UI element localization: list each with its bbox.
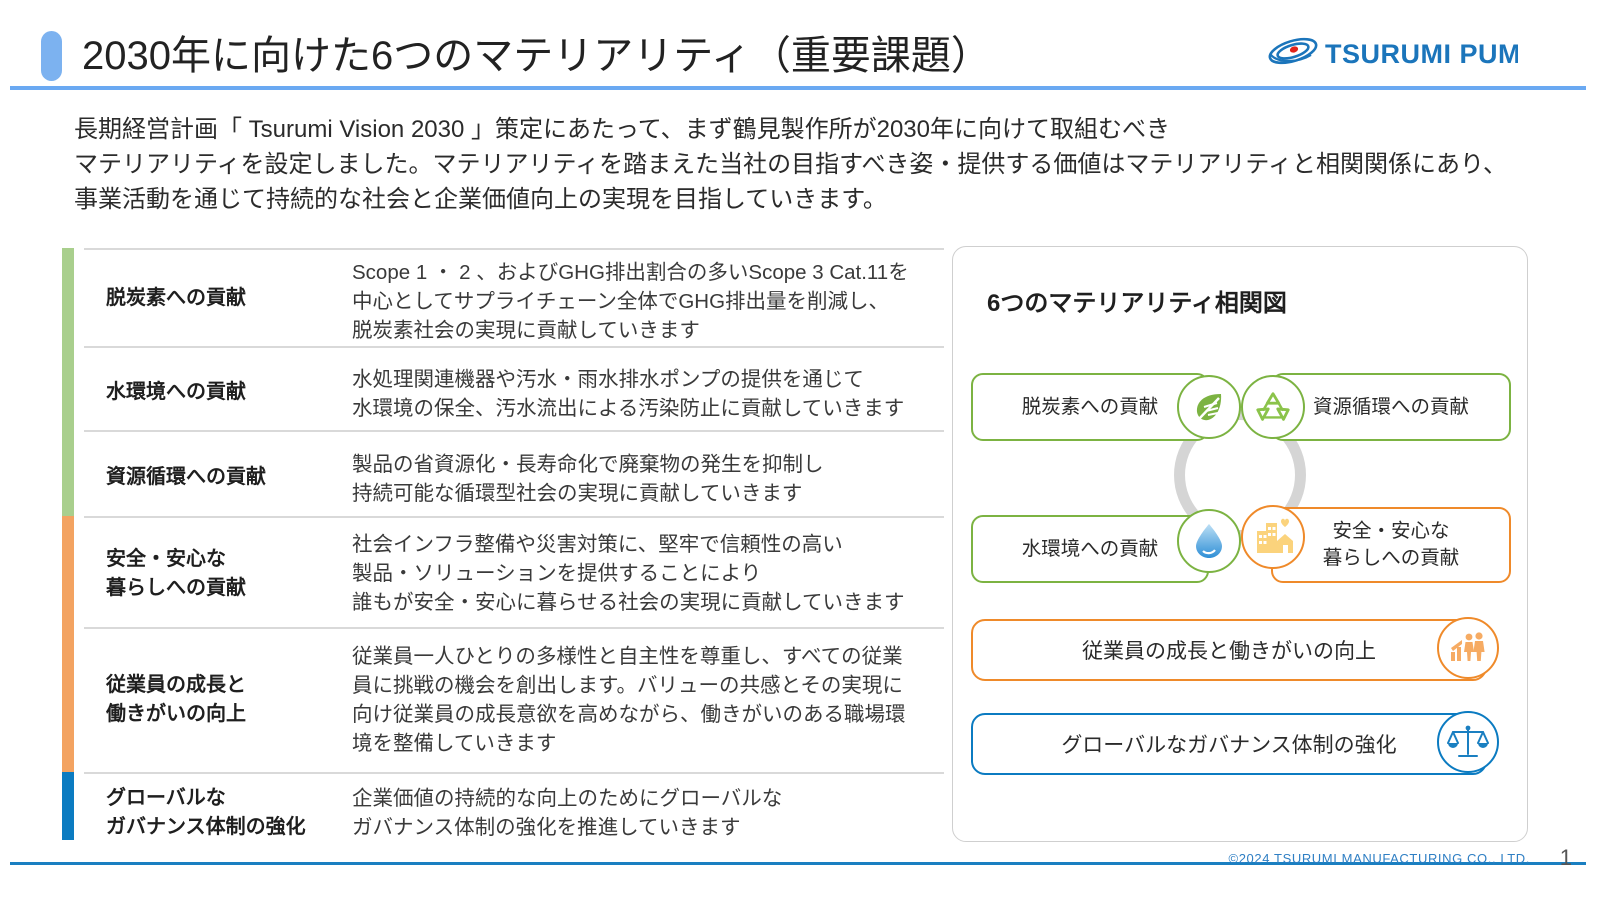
table-row: 資源循環への貢献 製品の省資源化・長寿命化で廃棄物の発生を抑制し 持続可能な循環… — [84, 430, 944, 516]
row-desc-line: 員に挑戦の機会を創出します。バリューの共感とその実現に — [352, 671, 903, 700]
town-house-icon — [1241, 505, 1305, 569]
diagram-bar-label: 従業員の成長と働きがいの向上 — [1082, 635, 1376, 665]
row-desc-line: 製品の省資源化・長寿命化で廃棄物の発生を抑制し — [352, 450, 824, 479]
row-title: 安全・安心な — [106, 545, 226, 574]
tsurumi-pump-logo: TSURUMI PUMP — [1268, 36, 1518, 70]
materiality-table: 脱炭素への貢献 Scope 1 ・ 2 、およびGHG排出割合の多いScope … — [62, 248, 944, 840]
table-row: 水環境への貢献 水処理関連機器や汚水・雨水排水ポンプの提供を通じて 水環境の保全… — [84, 346, 944, 430]
diagram-box-label: 資源循環への貢献 — [1313, 394, 1469, 421]
row-desc-line: ガバナンス体制の強化を推進していきます — [352, 813, 740, 842]
diagram-box-water-environment[interactable]: 水環境への貢献 — [971, 515, 1209, 583]
accent-bar-orange — [62, 516, 74, 772]
diagram-box-safe-living[interactable]: 安全・安心な 暮らしへの貢献 — [1271, 507, 1511, 583]
copyright-text: ©2024 TSURUMI MANUFACTURING CO., LTD. — [1229, 851, 1530, 866]
logo-wordmark: TSURUMI PUMP — [1325, 39, 1518, 69]
row-desc-line: Scope 1 ・ 2 、およびGHG排出割合の多いScope 3 Cat.11… — [352, 258, 909, 287]
logo-swirl-icon — [1268, 36, 1319, 68]
row-desc-line: 企業価値の持続的な向上のためにグローバルな — [352, 784, 782, 813]
row-desc-line: 脱炭素社会の実現に貢献していきます — [352, 316, 700, 345]
row-desc-line: 製品・ソリューションを提供することにより — [352, 559, 761, 588]
row-title: ガバナンス体制の強化 — [106, 813, 306, 842]
diagram-box-label: 安全・安心な 暮らしへの貢献 — [1323, 518, 1460, 572]
row-desc-line: 向け従業員の成長意欲を高めながら、働きがいのある職場環 — [352, 700, 906, 729]
table-row: 従業員の成長と 働きがいの向上 従業員一人ひとりの多様性と自主性を尊重し、すべて… — [84, 627, 944, 772]
title-accent-bar — [41, 31, 62, 81]
accent-bar-green — [62, 248, 74, 516]
intro-line-2: マテリアリティを設定しました。マテリアリティを踏まえた当社の目指すべき姿・提供す… — [74, 147, 1094, 182]
safe-living-line1: 安全・安心な — [1332, 520, 1449, 542]
page-title: 2030年に向けた6つのマテリアリティ（重要課題） — [82, 23, 991, 81]
row-desc-line: 水環境の保全、汚水流出による汚染防止に貢献していきます — [352, 394, 904, 423]
page-header: 2030年に向けた6つのマテリアリティ（重要課題） TSURUMI PUMP — [0, 0, 1600, 96]
leaf-icon — [1177, 375, 1241, 439]
row-desc-line: 持続可能な循環型社会の実現に貢献していきます — [352, 479, 802, 508]
intro-line-3: 事業活動を通じて持続的な社会と企業価値向上の実現を目指していきます。 — [74, 182, 1094, 217]
correlation-diagram-panel: 6つのマテリアリティ相関図 脱炭素への貢献 資源循環への貢献 — [952, 246, 1528, 842]
row-desc-line: 境を整備していきます — [352, 729, 556, 758]
recycle-icon — [1241, 375, 1305, 439]
row-desc-line: 中心としてサプライチェーン全体でGHG排出量を削減し、 — [352, 287, 889, 316]
row-desc-line: 従業員一人ひとりの多様性と自主性を尊重し、すべての従業 — [352, 642, 903, 671]
diagram-bar-label: グローバルなガバナンス体制の強化 — [1061, 729, 1396, 759]
header-divider — [10, 86, 1586, 90]
row-title: グローバルな — [106, 784, 226, 813]
row-title: 水環境への貢献 — [106, 378, 246, 407]
row-title: 資源循環への貢献 — [106, 463, 266, 492]
row-title: 従業員の成長と — [106, 671, 246, 700]
page-number: 1 — [1560, 845, 1572, 871]
people-growth-icon — [1437, 617, 1499, 679]
row-title: 脱炭素への貢献 — [106, 284, 246, 313]
scales-icon — [1437, 711, 1499, 773]
accent-bar-blue — [62, 772, 74, 840]
diagram-box-label: 脱炭素への貢献 — [1022, 394, 1159, 421]
row-desc-line: 水処理関連機器や汚水・雨水排水ポンプの提供を通じて — [352, 365, 864, 394]
diagram-box-decarbonization[interactable]: 脱炭素への貢献 — [971, 373, 1209, 441]
table-row: 安全・安心な 暮らしへの貢献 社会インフラ整備や災害対策に、堅牢で信頼性の高い … — [84, 516, 944, 627]
intro-line-1: 長期経営計画「 Tsurumi Vision 2030 」策定にあたって、まず鶴… — [74, 112, 1094, 147]
row-desc-line: 社会インフラ整備や災害対策に、堅牢で信頼性の高い — [352, 530, 843, 559]
diagram-box-resource-circulation[interactable]: 資源循環への貢献 — [1271, 373, 1511, 441]
diagram-box-label: 水環境への貢献 — [1022, 536, 1159, 563]
row-desc-line: 誰もが安全・安心に暮らせる社会の実現に貢献していきます — [352, 588, 904, 617]
table-row: グローバルな ガバナンス体制の強化 企業価値の持続的な向上のためにグローバルな … — [84, 772, 944, 840]
materiality-relationship-diagram: 脱炭素への貢献 資源循環への貢献 — [953, 353, 1529, 605]
table-row: 脱炭素への貢献 Scope 1 ・ 2 、およびGHG排出割合の多いScope … — [84, 248, 944, 346]
panel-title: 6つのマテリアリティ相関図 — [987, 283, 1287, 318]
safe-living-line2: 暮らしへの貢献 — [1323, 547, 1460, 569]
intro-paragraph: 長期経営計画「 Tsurumi Vision 2030 」策定にあたって、まず鶴… — [74, 112, 1094, 217]
water-drop-icon — [1177, 509, 1241, 573]
diagram-bar-employee-growth[interactable]: 従業員の成長と働きがいの向上 — [971, 619, 1487, 681]
row-title: 働きがいの向上 — [106, 700, 246, 729]
row-title: 暮らしへの貢献 — [106, 574, 246, 603]
diagram-bar-governance[interactable]: グローバルなガバナンス体制の強化 — [971, 713, 1487, 775]
